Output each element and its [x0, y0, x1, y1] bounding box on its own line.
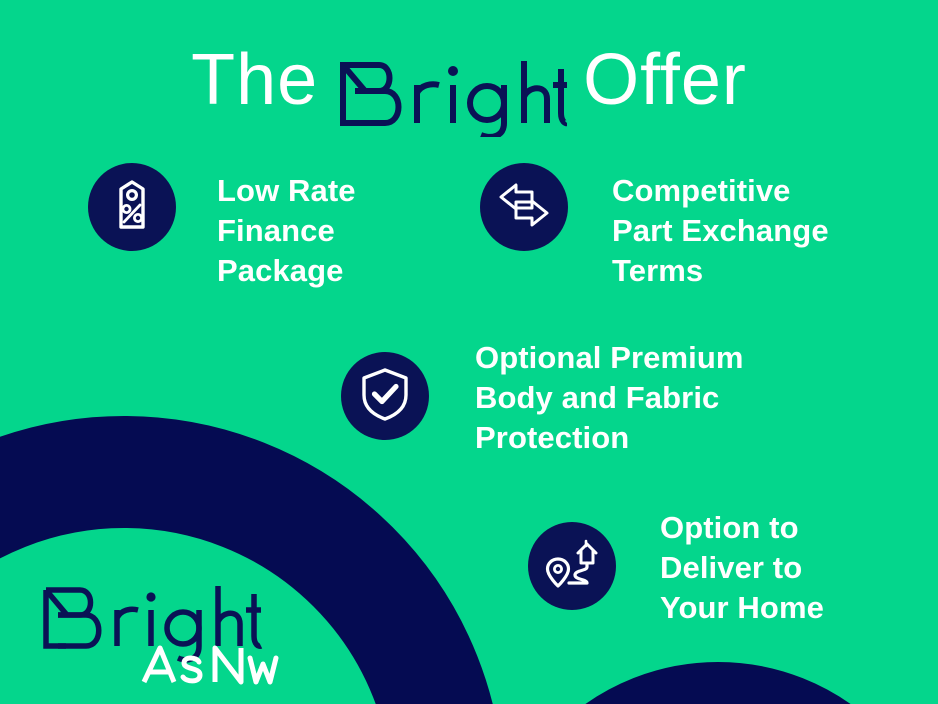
promo-graphic: The Offer	[0, 0, 938, 704]
feature-item-finance: Low Rate Finance Package	[88, 163, 356, 291]
feature-label-protection: Optional Premium Body and Fabric Protect…	[475, 338, 744, 458]
two-way-exchange-arrows-icon	[498, 180, 550, 235]
headline-prefix: The	[191, 44, 318, 116]
feature-label-finance: Low Rate Finance Package	[217, 171, 356, 291]
icon-circle-delivery	[528, 522, 616, 610]
feature-label-exchange: Competitive Part Exchange Terms	[612, 171, 829, 291]
map-pin-road-house-icon	[545, 538, 599, 595]
bright-wordmark	[335, 51, 567, 141]
feature-item-exchange: Competitive Part Exchange Terms	[480, 163, 829, 291]
logo-bright-wordmark	[46, 586, 261, 660]
icon-circle-finance	[88, 163, 176, 251]
price-tag-percent-icon	[109, 180, 155, 235]
icon-circle-exchange	[480, 163, 568, 251]
icon-circle-protection	[341, 352, 429, 440]
shield-check-icon	[360, 367, 410, 426]
brand-logo-bright-as-new	[40, 578, 290, 688]
page-title: The Offer	[0, 44, 938, 145]
feature-item-protection: Optional Premium Body and Fabric Protect…	[341, 330, 744, 458]
logo-asnew-wordmark	[144, 648, 276, 682]
feature-item-delivery: Option to Deliver to Your Home	[528, 500, 824, 628]
headline-suffix: Offer	[583, 44, 747, 116]
feature-label-delivery: Option to Deliver to Your Home	[660, 508, 824, 628]
navy-ring-bottom-right	[488, 662, 938, 704]
